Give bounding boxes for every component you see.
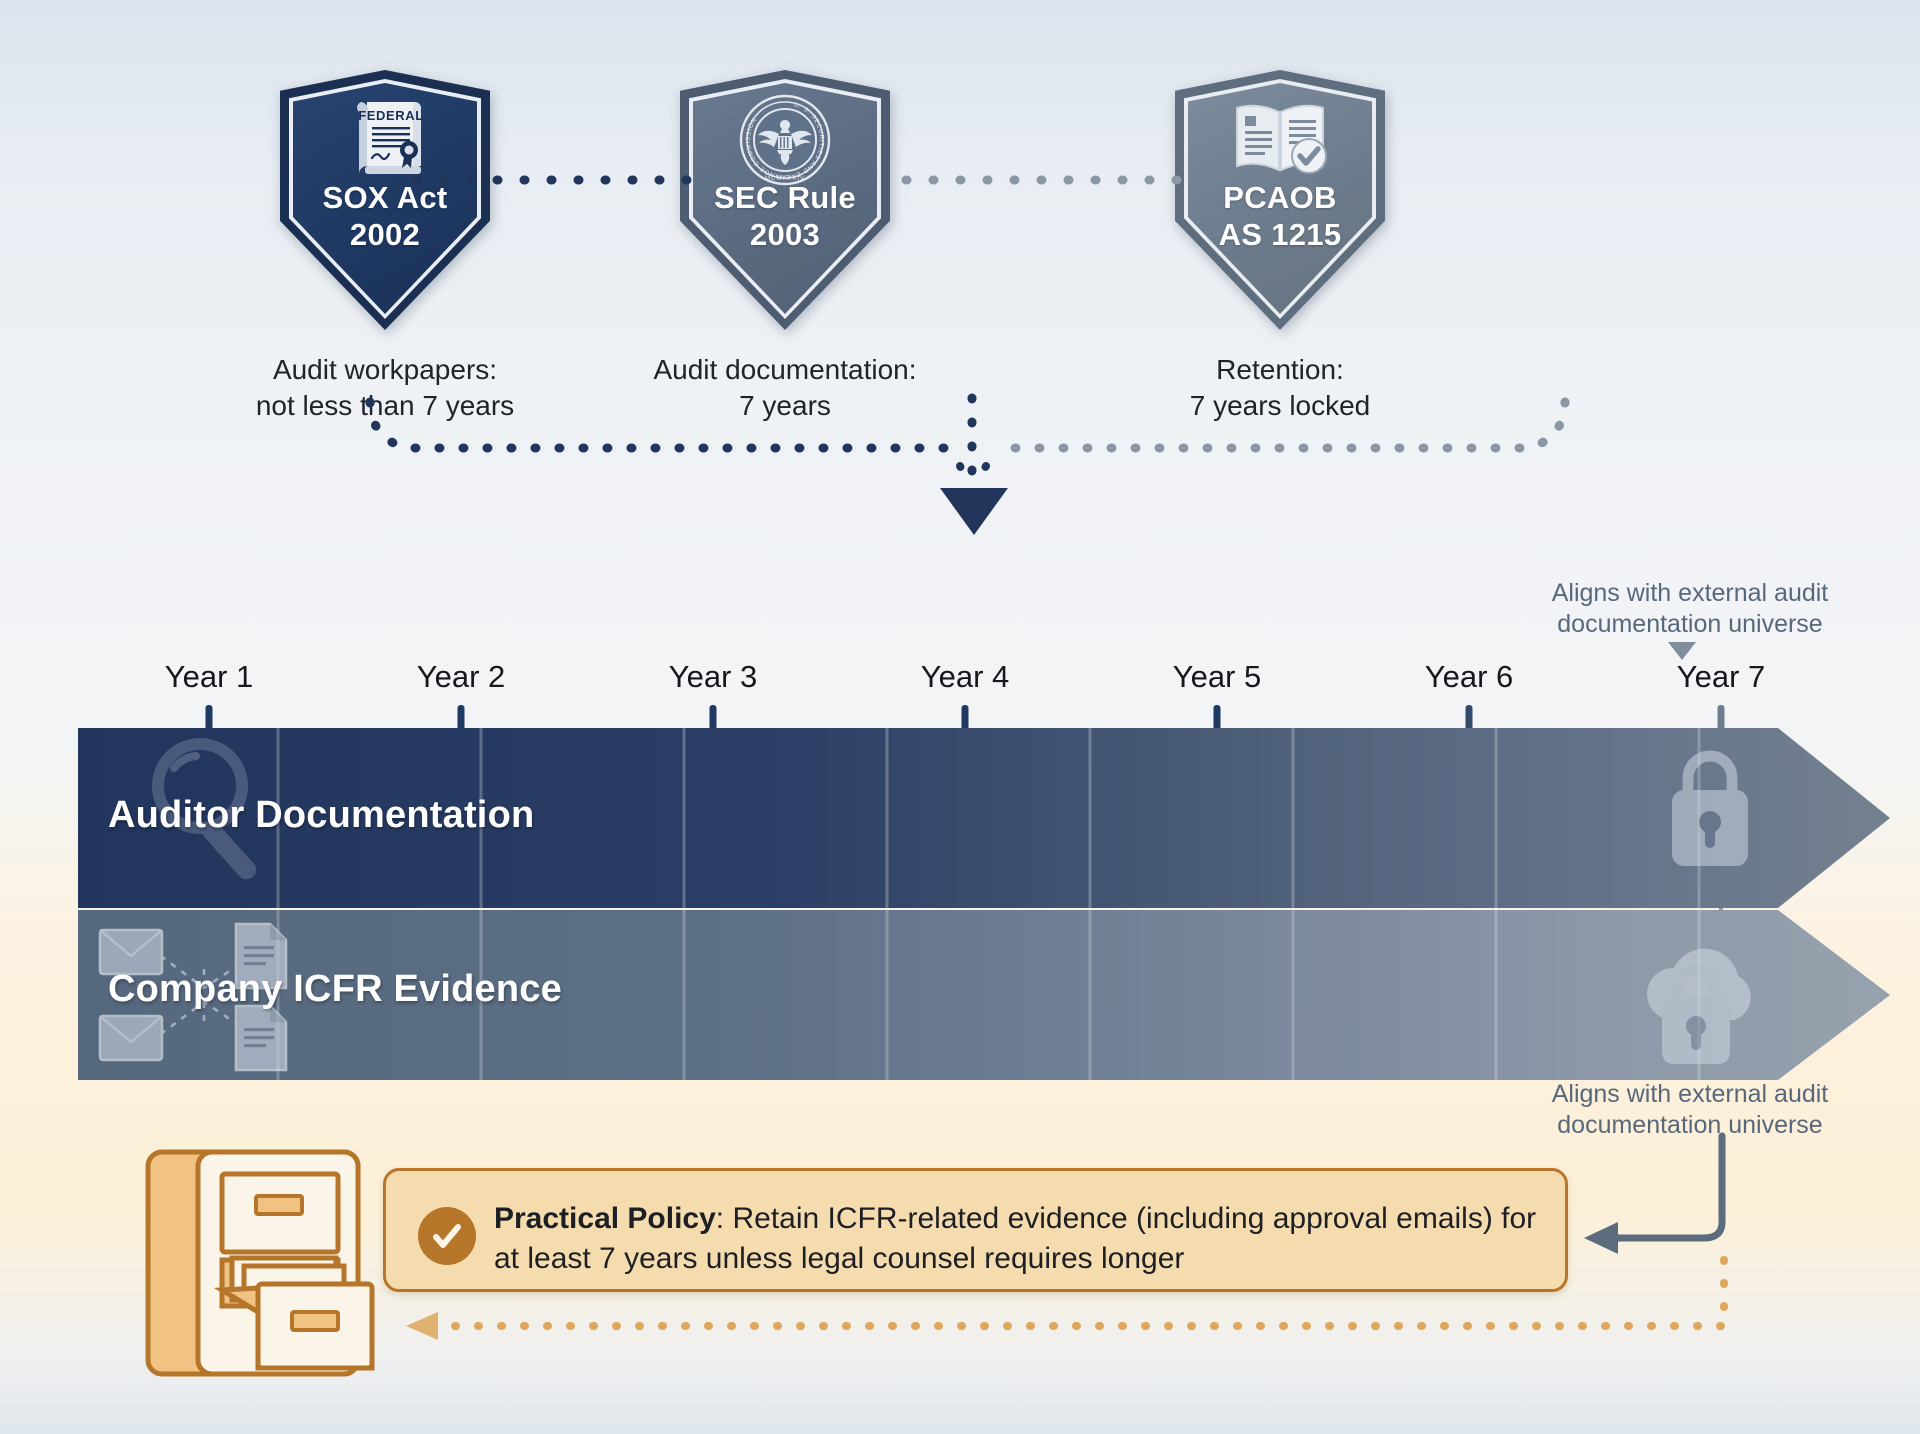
track-icfr-evidence: Company ICFR Evidence: [78, 910, 1890, 1080]
track-auditor-documentation: Auditor Documentation: [78, 728, 1890, 908]
year-label-1: Year 1: [165, 659, 254, 695]
year-label-7: Year 7: [1677, 659, 1766, 695]
practical-policy-separator: :: [716, 1202, 733, 1235]
shield-sox: FEDERAL SOX Act 2002: [280, 70, 490, 330]
shield-sec-line2: 2003: [680, 217, 890, 254]
down-arrow-marker: [940, 488, 1008, 535]
shield-pcaob-line1: PCAOB: [1175, 180, 1385, 217]
year-label-2: Year 2: [417, 659, 506, 695]
filing-cabinet-icon: [140, 1140, 390, 1395]
badge-sec: U. S. SECURITIES AND EXCHANGE COMMISSION…: [580, 70, 990, 424]
open-book-check-icon: [1229, 98, 1331, 185]
check-circle-icon: [418, 1207, 476, 1265]
shield-sec-text: SEC Rule 2003: [680, 180, 890, 253]
badge-sox: FEDERAL SOX Act 2002 Audit: [180, 70, 590, 424]
practical-policy-callout: Practical Policy: Retain ICFR-related ev…: [383, 1168, 1568, 1292]
practical-policy-text: Practical Policy: Retain ICFR-related ev…: [494, 1199, 1539, 1279]
shield-pcaob: PCAOB AS 1215: [1175, 70, 1385, 330]
shield-link-sec-pcaob: [900, 165, 1200, 195]
badge-pcaob: PCAOB AS 1215 Retention: 7 years locked: [1075, 70, 1485, 424]
year-label-5: Year 5: [1173, 659, 1262, 695]
practical-policy-strong: Practical Policy: [494, 1202, 716, 1235]
shield-link-sox-sec: [410, 165, 700, 195]
track-auditor-label: Auditor Documentation: [108, 794, 534, 837]
track-icfr-label: Company ICFR Evidence: [108, 968, 562, 1011]
year-label-3: Year 3: [669, 659, 758, 695]
annotation-top: Aligns with external audit documentation…: [1525, 578, 1855, 641]
shield-sec: U. S. SECURITIES AND EXCHANGE COMMISSION…: [680, 70, 890, 330]
year-label-4: Year 4: [921, 659, 1010, 695]
shield-sox-line2: 2002: [280, 217, 490, 254]
svg-text:FEDERAL: FEDERAL: [358, 108, 424, 123]
sec-seal-icon: U. S. SECURITIES AND EXCHANGE COMMISSION…: [737, 92, 833, 193]
document-icon: [236, 1006, 286, 1070]
shield-pcaob-text: PCAOB AS 1215: [1175, 180, 1385, 253]
shield-sec-line1: SEC Rule: [680, 180, 890, 217]
infographic-canvas: FEDERAL SOX Act 2002 Audit: [0, 0, 1920, 1434]
year-label-6: Year 6: [1425, 659, 1514, 695]
email-icon: [100, 1016, 162, 1060]
shield-pcaob-line2: AS 1215: [1175, 217, 1385, 254]
